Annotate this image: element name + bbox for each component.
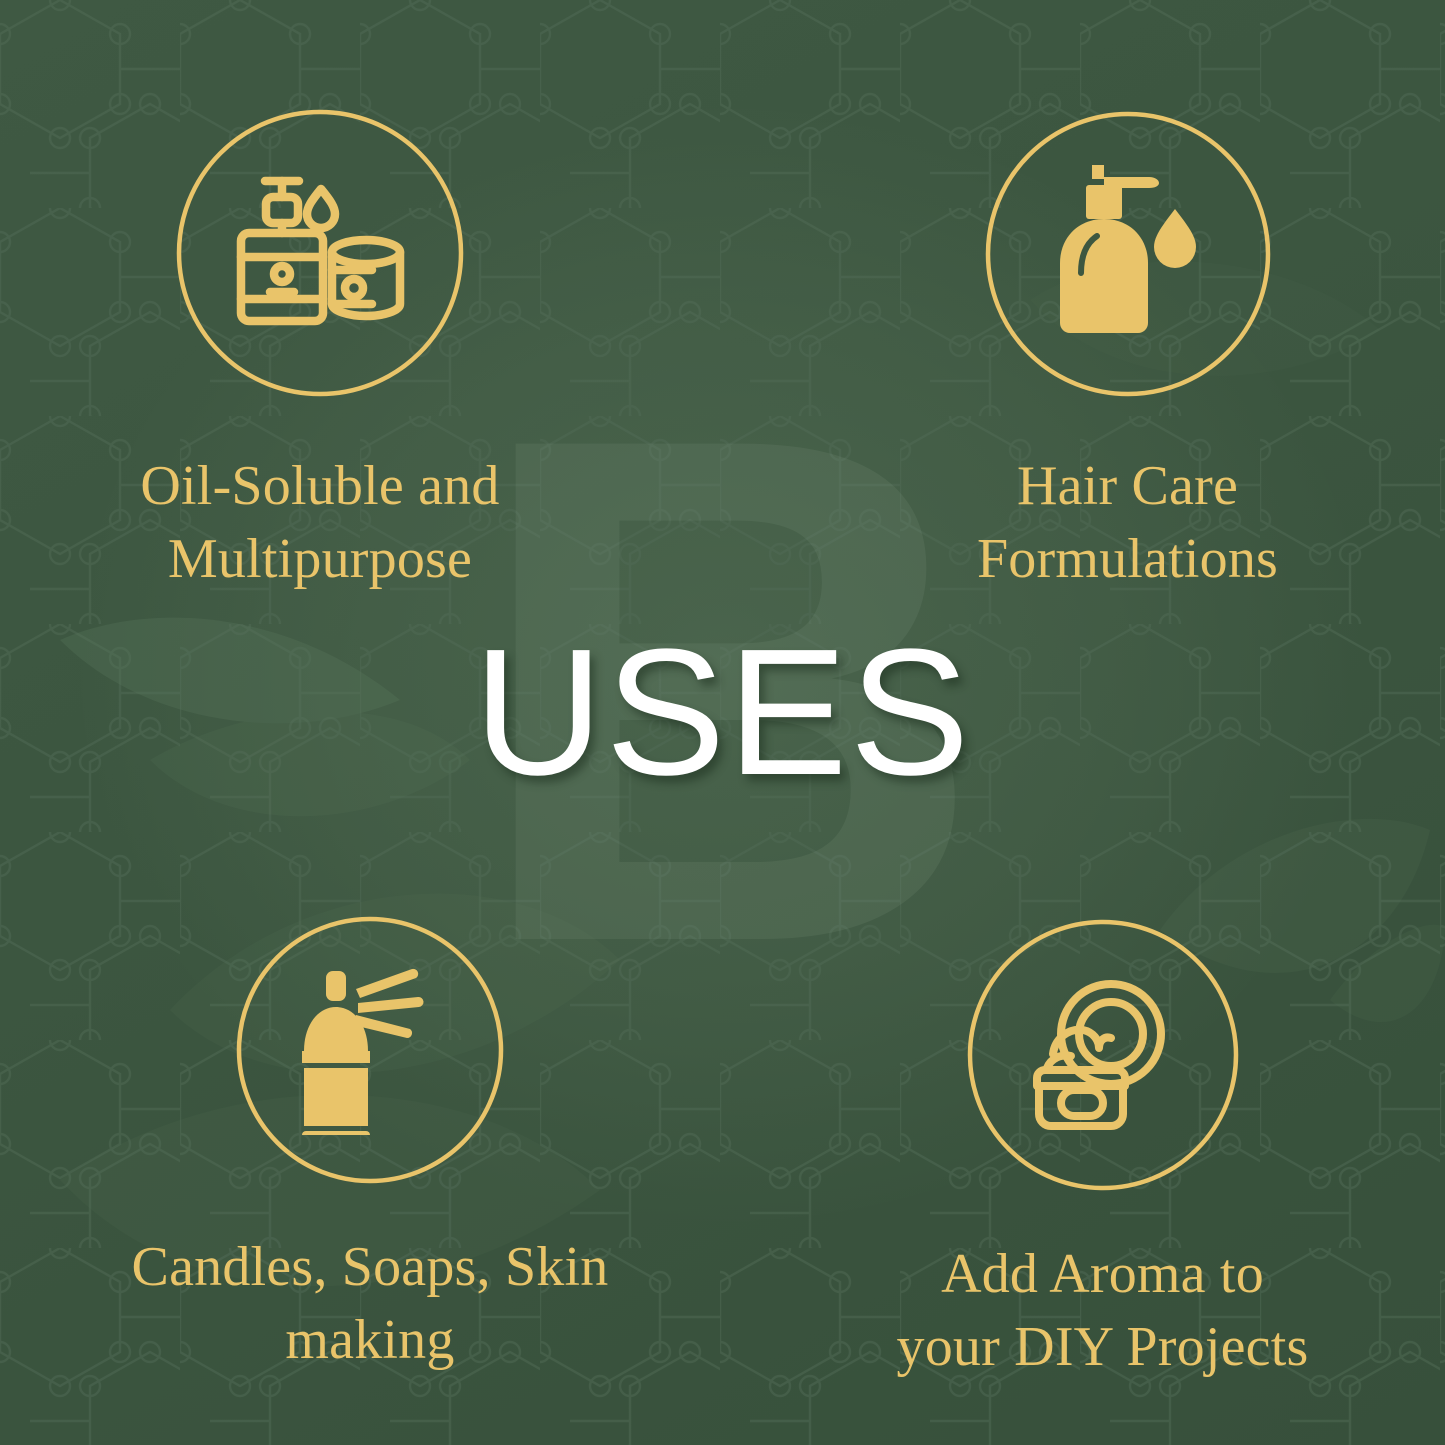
- pump-bottle-with-droplet-icon: [1048, 161, 1208, 347]
- use-item-caption: Hair Care Formulations: [810, 450, 1445, 596]
- page-title: USES: [0, 623, 1445, 803]
- use-item-caption: Oil-Soluble and Multipurpose: [0, 450, 640, 596]
- icon-badge-hair-care: [984, 110, 1272, 398]
- use-item-oil-soluble: Oil-Soluble and Multipurpose: [0, 108, 640, 596]
- icon-badge-candles-soaps: [235, 915, 505, 1185]
- uses-poster: B: [0, 0, 1445, 1445]
- use-item-candles-soaps: Candles, Soaps, Skin making: [20, 915, 720, 1377]
- use-item-caption: Add Aroma to your DIY Projects: [760, 1238, 1445, 1384]
- icon-badge-diy-aroma: [966, 918, 1240, 1192]
- cream-jar-with-lid-icon: [1023, 980, 1183, 1130]
- lotion-bottle-and-jar-icon: [235, 173, 405, 333]
- use-item-hair-care: Hair Care Formulations: [810, 110, 1445, 596]
- icon-badge-oil-soluble: [175, 108, 465, 398]
- spray-can-icon: [290, 965, 450, 1135]
- use-item-caption: Candles, Soaps, Skin making: [20, 1231, 720, 1377]
- use-item-diy-aroma: Add Aroma to your DIY Projects: [760, 918, 1445, 1384]
